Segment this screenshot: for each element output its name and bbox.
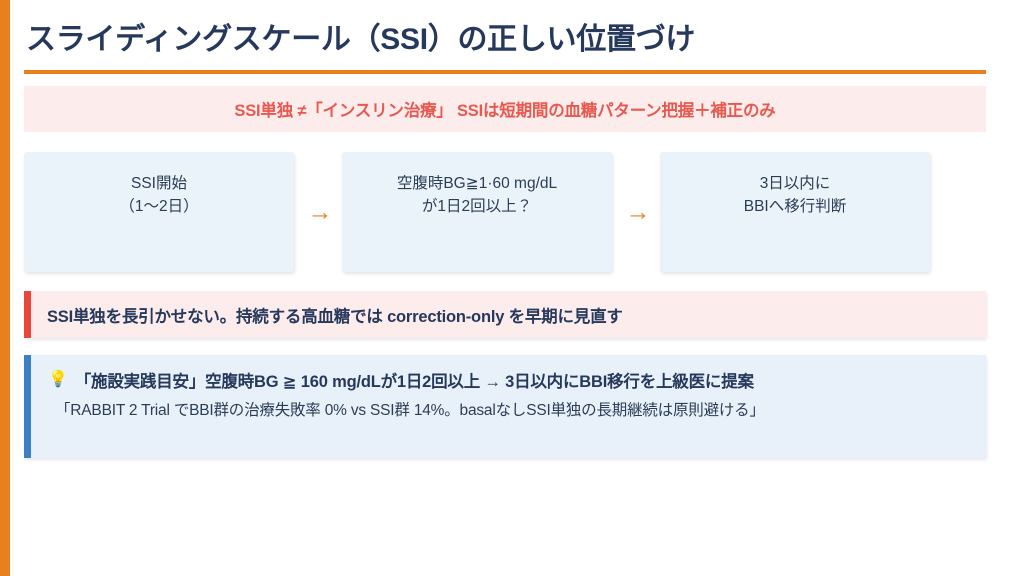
blue-note-heading-text: 「施設実践目安」空腹時BG ≧ 160 mg/dLが1日2回以上 → 3日以内に… [75, 368, 754, 392]
page-title: スライディングスケール（SSI）の正しい位置づけ [26, 14, 986, 58]
warning-banner-text: SSI単独 ≠「インスリン治療」 SSIは短期間の血糖パターン把握＋補正のみ [234, 97, 775, 121]
red-callout-text: SSI単独を長引かせない。持続する高血糖では correction-only を… [31, 303, 623, 327]
blue-note-body: 💡 「施設実践目安」空腹時BG ≧ 160 mg/dLが1日2回以上 → 3日以… [31, 355, 765, 458]
red-callout-panel: SSI単独を長引かせない。持続する高血糖では correction-only を… [24, 291, 986, 338]
flow-step-2: 空腹時BG≧1·60 mg/dL が1日2回以上？ [342, 152, 612, 272]
flow-step-1-label: SSI開始 （1〜2日） [24, 172, 294, 219]
flow-arrow-2-icon: → [614, 200, 662, 225]
flow-step-2-label: 空腹時BG≧1·60 mg/dL が1日2回以上？ [342, 172, 612, 219]
lightbulb-icon: 💡 [48, 372, 68, 388]
blue-note-panel: 💡 「施設実践目安」空腹時BG ≧ 160 mg/dLが1日2回以上 → 3日以… [24, 355, 986, 458]
flow-step-1: SSI開始 （1〜2日） [24, 152, 294, 272]
flow-step-3: 3日以内に BBIへ移行判断 [660, 152, 930, 272]
warning-banner: SSI単独 ≠「インスリン治療」 SSIは短期間の血糖パターン把握＋補正のみ [24, 86, 986, 132]
flow-arrow-1-icon: → [296, 200, 344, 225]
slide-canvas: スライディングスケール（SSI）の正しい位置づけ SSI単独 ≠「インスリン治療… [0, 0, 1024, 576]
blue-note-heading-row: 💡 「施設実践目安」空腹時BG ≧ 160 mg/dLが1日2回以上 → 3日以… [48, 368, 765, 392]
title-underline-rule [24, 70, 986, 74]
blue-note-accent-bar [24, 355, 31, 458]
flow-step-3-label: 3日以内に BBIへ移行判断 [660, 172, 930, 219]
flow-diagram: SSI開始 （1〜2日） → 空腹時BG≧1·60 mg/dL が1日2回以上？… [24, 152, 986, 272]
red-callout-accent-bar [24, 291, 31, 338]
blue-note-citation-text: 「RABBIT 2 Trial でBBI群の治療失敗率 0% vs SSI群 1… [48, 398, 765, 420]
